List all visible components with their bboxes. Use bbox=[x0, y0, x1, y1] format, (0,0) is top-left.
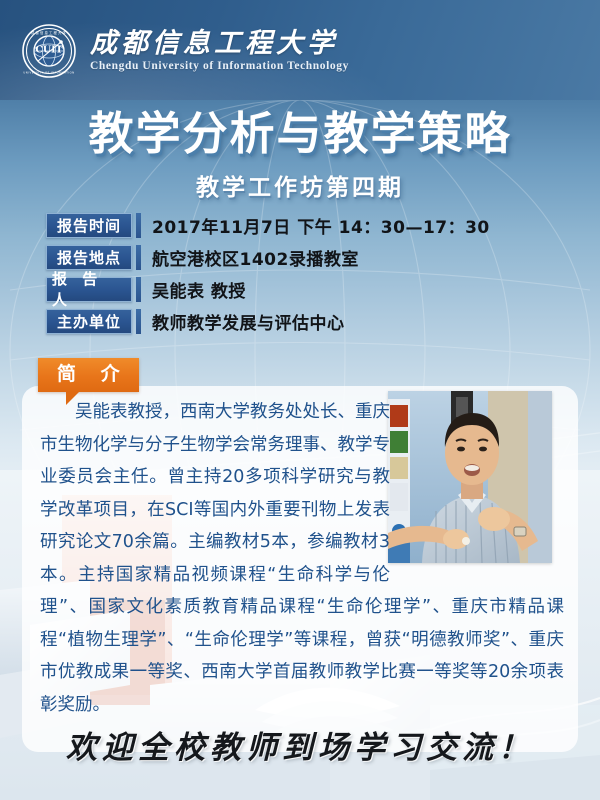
svg-text:UNIVERSITY OF INFORMATION: UNIVERSITY OF INFORMATION bbox=[23, 71, 74, 75]
info-divider bbox=[136, 245, 141, 270]
info-row-time: 报告时间 2017年11月7日 下午 14：30—17：30 bbox=[46, 212, 556, 238]
intro-section-badge: 简 介 bbox=[38, 358, 139, 392]
title-block: 教学分析与教学策略 教学工作坊第四期 bbox=[0, 108, 600, 202]
photo-text-wrap-spacer bbox=[390, 396, 564, 574]
event-info-list: 报告时间 2017年11月7日 下午 14：30—17：30 报告地点 航空港校… bbox=[46, 212, 556, 334]
info-value-speaker: 吴能表 教授 bbox=[152, 277, 246, 302]
info-label-time: 报告时间 bbox=[46, 213, 132, 238]
info-row-speaker: 报 告 人 吴能表 教授 bbox=[46, 276, 556, 302]
info-label-organizer: 主办单位 bbox=[46, 309, 132, 334]
svg-text:成都信息工程大学: 成都信息工程大学 bbox=[31, 30, 67, 35]
university-seal-icon: CUIT 成都信息工程大学 UNIVERSITY OF INFORMATION bbox=[22, 24, 76, 78]
university-name-cn: 成都信息工程大学 bbox=[90, 30, 349, 58]
university-name-block: 成都信息工程大学 Chengdu University of Informati… bbox=[90, 30, 349, 72]
info-value-location: 航空港校区1402录播教室 bbox=[152, 245, 359, 270]
info-label-location: 报告地点 bbox=[46, 245, 132, 270]
page-subtitle: 教学工作坊第四期 bbox=[0, 168, 600, 202]
intro-badge-wrapper: 简 介 bbox=[38, 358, 139, 392]
info-value-time: 2017年11月7日 下午 14：30—17：30 bbox=[152, 213, 490, 238]
header-branding: CUIT 成都信息工程大学 UNIVERSITY OF INFORMATION … bbox=[22, 24, 349, 78]
info-row-location: 报告地点 航空港校区1402录播教室 bbox=[46, 244, 556, 270]
page-title: 教学分析与教学策略 bbox=[0, 108, 600, 159]
welcome-slogan: 欢迎全校教师到场学习交流！ bbox=[0, 722, 600, 767]
info-label-speaker: 报 告 人 bbox=[46, 277, 132, 302]
info-divider bbox=[136, 309, 141, 334]
header-band: CUIT 成都信息工程大学 UNIVERSITY OF INFORMATION … bbox=[0, 0, 600, 100]
info-value-organizer: 教师教学发展与评估中心 bbox=[152, 309, 345, 334]
university-name-en: Chengdu University of Information Techno… bbox=[90, 60, 349, 72]
info-divider bbox=[136, 277, 141, 302]
poster-root: CUIT 成都信息工程大学 UNIVERSITY OF INFORMATION … bbox=[0, 0, 600, 800]
info-divider bbox=[136, 213, 141, 238]
intro-body-text: 吴能表教授，西南大学教务处处长、重庆市生物化学与分子生物学会常务理事、教学专业委… bbox=[40, 396, 564, 721]
svg-text:CUIT: CUIT bbox=[35, 45, 62, 56]
info-row-organizer: 主办单位 教师教学发展与评估中心 bbox=[46, 308, 556, 334]
